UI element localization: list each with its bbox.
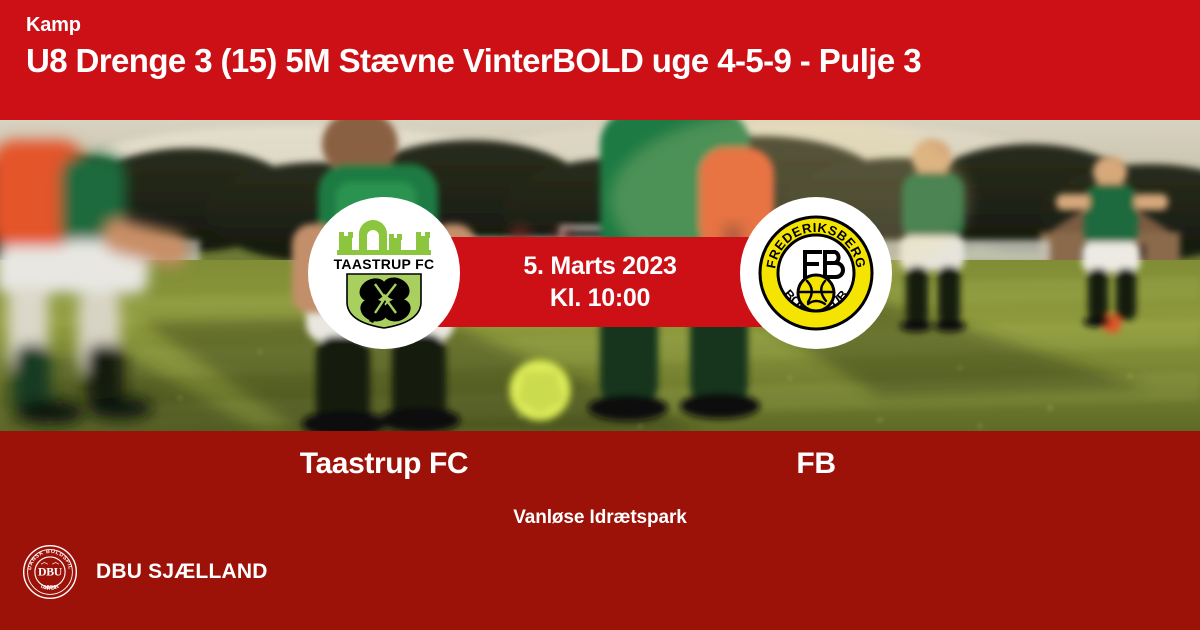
page-title: U8 Drenge 3 (15) 5M Stævne VinterBOLD ug…: [26, 42, 1200, 80]
home-team-name: Taastrup FC: [184, 444, 584, 484]
footer-org-name: DBU SJÆLLAND: [96, 560, 268, 584]
team-names-row: Taastrup FC FB: [0, 444, 1200, 494]
footer: DANSK BOLDSPIL UNION DBU 1889 DBU SJÆLLA…: [22, 541, 268, 603]
match-venue: Vanløse Idrætspark: [0, 507, 1200, 529]
svg-text:DBU: DBU: [38, 565, 63, 578]
match-poster: Kamp U8 Drenge 3 (15) 5M Stævne VinterBO…: [0, 0, 1200, 630]
taastrup-fc-crest-icon: TAASTRUP FC: [325, 214, 443, 332]
away-team-crest: FREDERIKSBERG BOLDKLUB: [740, 197, 892, 349]
away-team-name: FB: [616, 444, 1016, 484]
svg-text:TAASTRUP FC: TAASTRUP FC: [334, 256, 435, 272]
svg-text:1889: 1889: [44, 585, 57, 591]
frederiksberg-boldklub-crest-icon: FREDERIKSBERG BOLDKLUB: [753, 210, 879, 336]
match-date: 5. Marts 2023: [523, 250, 676, 282]
dbu-seal-icon: DANSK BOLDSPIL UNION DBU 1889: [22, 544, 78, 600]
match-time: Kl. 10:00: [550, 282, 650, 314]
home-team-crest: TAASTRUP FC: [308, 197, 460, 349]
poster-header: Kamp U8 Drenge 3 (15) 5M Stævne VinterBO…: [0, 0, 1200, 120]
header-kicker: Kamp: [26, 14, 1200, 36]
